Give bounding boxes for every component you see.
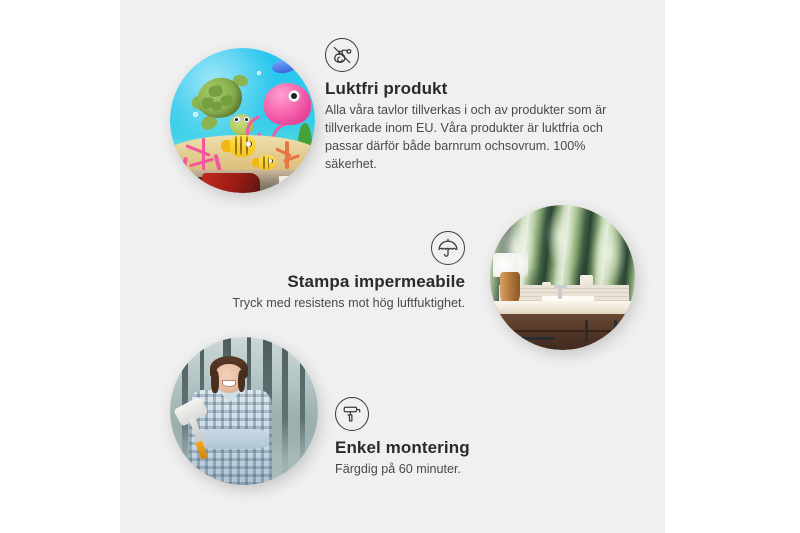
hair-side: [211, 370, 218, 394]
kids-underwater-mural-thumbnail[interactable]: [170, 48, 315, 193]
room-reflection-red-sofa: [202, 173, 260, 193]
octopus-eye: [288, 90, 300, 103]
umbrella-icon: [431, 231, 465, 265]
feature-waterproof: Stampa impermeabile Tryck med resistens …: [215, 231, 465, 313]
feature-body: Färgdig på 60 minuter.: [335, 461, 595, 479]
fish-stripe: [263, 156, 264, 169]
feature-title: Luktfri produkt: [325, 78, 635, 99]
fish-stripe: [268, 156, 269, 169]
turtle-scute: [220, 94, 234, 106]
cabinet-handle: [585, 320, 588, 342]
hair-side: [238, 370, 245, 392]
yellow-fish-graphic: [228, 135, 256, 157]
ocean-image-inner: [170, 48, 315, 193]
smile: [223, 381, 235, 385]
octopus-head: [264, 83, 311, 125]
fish-stripe: [246, 136, 248, 155]
cabinet-handle: [614, 320, 617, 342]
content-panel: Luktfri produkt Alla våra tavlor tillver…: [120, 0, 665, 533]
cabinet-handle: [517, 337, 555, 340]
icon-wrap-odourfree: [325, 38, 635, 72]
feature-title: Enkel montering: [335, 437, 595, 458]
paint-roller-icon: [335, 397, 369, 431]
turtle-eye: [233, 116, 240, 123]
fish-stripe: [240, 136, 242, 155]
page-root: Luktfri produkt Alla våra tavlor tillver…: [0, 0, 800, 533]
faucet-icon: [558, 285, 562, 300]
feature-title: Stampa impermeabile: [215, 271, 465, 292]
feature-odourfree: Luktfri produkt Alla våra tavlor tillver…: [325, 38, 635, 174]
no-fragrance-icon: [325, 38, 359, 72]
icon-wrap-assembly: [335, 397, 595, 431]
painter-image-inner: [170, 337, 318, 485]
feature-body: Alla våra tavlor tillverkas i och av pro…: [325, 102, 635, 174]
woman-with-paint-roller-thumbnail[interactable]: [170, 337, 318, 485]
coral-branch: [185, 144, 210, 157]
bathroom-image-inner: [490, 205, 635, 350]
paint-roller-glyph: [336, 398, 368, 430]
no-fragrance-glyph: [326, 39, 358, 71]
room-reflection-white: [279, 176, 292, 193]
feature-body: Tryck med resistens mot hög luftfuktighe…: [215, 295, 465, 313]
wood-cabinet: [496, 314, 635, 350]
umbrella-glyph: [432, 232, 464, 264]
bathroom-tropical-wallpaper-thumbnail[interactable]: [490, 205, 635, 350]
fish-stripe: [235, 136, 237, 155]
icon-wrap-waterproof: [215, 231, 465, 265]
feature-assembly: Enkel montering Färgdig på 60 minuter.: [335, 397, 595, 479]
